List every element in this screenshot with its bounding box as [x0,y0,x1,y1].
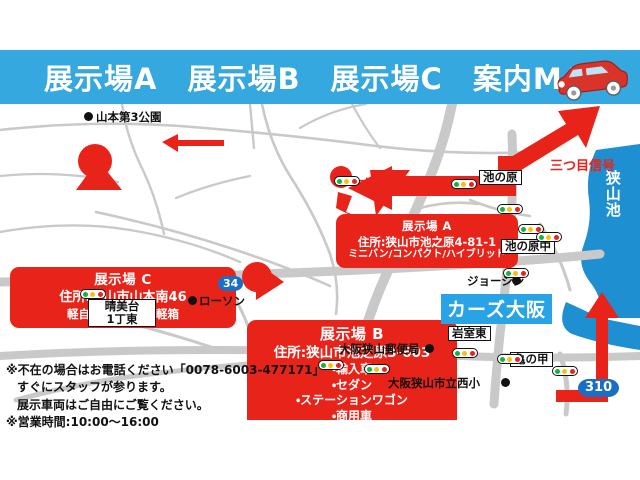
route-arrow-small-left [162,134,224,152]
page-title: 展示場A 展示場B 展示場C 案内MAP [44,56,608,98]
traffic-signal-left [451,179,477,189]
label-harumidai-line2: 1丁東 [92,313,152,326]
label-nishi-elementary: 大阪狭山市立西小 [388,375,480,391]
label-lawson: ローソン [199,293,245,309]
traffic-signal-ikenoharanaka [536,232,562,242]
note-line-2: すぐにスタッフが参ります。 [6,379,336,396]
nishi-elementary-dot [501,378,510,387]
yamamoto-park-dot [84,112,93,121]
note-line-3: 展示車両はご自由にご覧ください。 [6,397,336,414]
label-sayama-pond: 狭山池 [604,170,620,218]
callout-a-subtitle: ミニバン/コンパクト/ハイブリッド [344,249,510,262]
callout-c-title: 展示場 C [18,272,228,289]
label-post-office: 大阪狭山郵便局 [339,341,420,357]
traffic-signal-west [364,364,390,374]
traffic-signal-ikenohara [497,204,523,214]
footer-notes: ※不在の場合はお電話ください「0078-6003-477171」 すぐにスタッフ… [6,362,336,432]
traffic-signal-iwamuro [497,354,523,364]
label-iwamuro-higashi: 岩室東 [448,326,491,341]
traffic-signal-kamenoko [552,366,578,376]
label-yamamoto-park: 山本第3公園 [96,109,162,125]
label-ikenohara: 池の原 [479,170,522,185]
note-line-4: ※営業時間:10:00〜16:00 [6,414,336,431]
traffic-signal-joshin [503,268,529,278]
post-office-dot [425,344,434,353]
cars-osaka-badge: カーズ大阪 [441,294,552,324]
label-third-signal: 三つ目信号 [550,155,615,174]
route-shield-310: 310 [578,379,619,397]
label-harumidai: 晴美台 1丁東 [88,299,156,327]
traffic-signal-postoffice [452,348,478,358]
traffic-signal-turn-right [334,176,360,186]
map-page: 展示場A 展示場B 展示場C 案内MAP [0,0,640,480]
callout-a-title: 展示場 A [344,219,510,234]
route-shield-34: 34 [218,276,243,291]
callout-showroom-a[interactable]: 展示場 A 住所:狭山市池之原4-81-1 ミニバン/コンパクト/ハイブリッド [336,214,518,268]
red-car-icon [546,54,632,102]
note-line-1: ※不在の場合はお電話ください「0078-6003-477171」 [6,362,336,379]
traffic-signal-harumidai [80,289,106,299]
header-banner: 展示場A 展示場B 展示場C 案内MAP [0,50,640,104]
lawson-dot [188,296,197,305]
callout-c-tail [56,156,146,196]
callout-a-address: 住所:狭山市池之原4-81-1 [344,235,510,250]
callout-b-tail [240,252,300,312]
